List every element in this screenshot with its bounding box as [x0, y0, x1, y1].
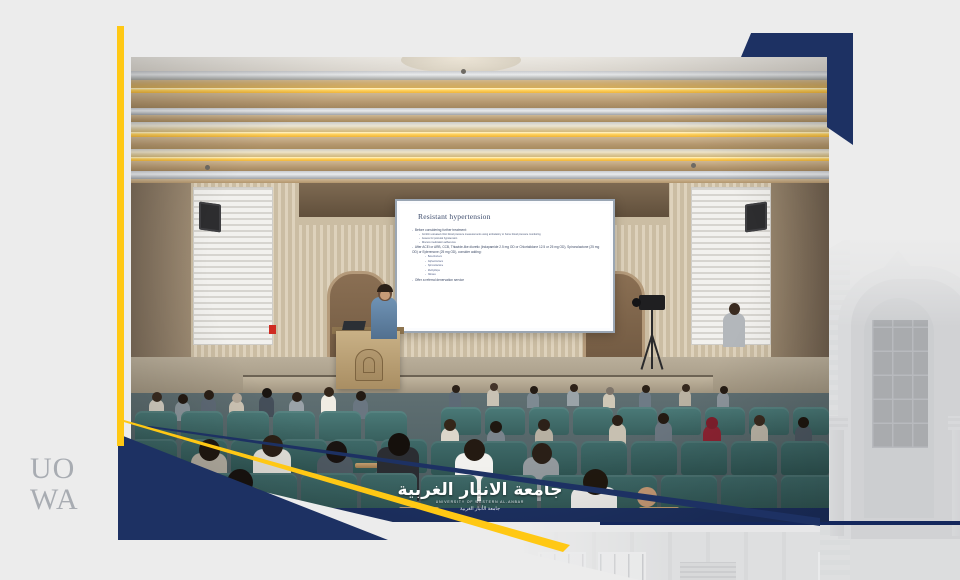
slide-title: Resistant hypertension — [418, 212, 491, 221]
university-english-name: UNIVERSITY OF WESTERN AL-ANBAR — [398, 500, 563, 504]
fire-alarm-a — [269, 325, 276, 334]
loudspeaker-left — [199, 201, 221, 232]
ceiling — [131, 57, 829, 185]
presenter-body — [371, 297, 397, 339]
uowa-line-2: WA — [30, 486, 79, 515]
poster-canvas: Resistant hypertension Before considerin… — [0, 0, 960, 580]
slide-bullet: Before considering further treatment: — [412, 228, 604, 233]
camera-operator-head — [729, 303, 740, 315]
uowa-line-1: UO — [30, 455, 79, 484]
video-camera — [639, 295, 665, 310]
slide-bullet: After ACEi or ARB, CCB, Thiazide-like di… — [412, 245, 604, 254]
presentation-slide: Resistant hypertension Before considerin… — [400, 204, 610, 328]
vertical-yellow-rule — [117, 26, 124, 446]
projection-screen: Resistant hypertension Before considerin… — [395, 199, 615, 333]
uowa-wordmark: UO WA — [30, 455, 79, 514]
laptop — [342, 321, 366, 330]
navy-corner-bracket — [741, 33, 853, 145]
loudspeaker-right — [745, 201, 767, 232]
slide-bullet: Offer a referral denervation service — [412, 278, 604, 283]
